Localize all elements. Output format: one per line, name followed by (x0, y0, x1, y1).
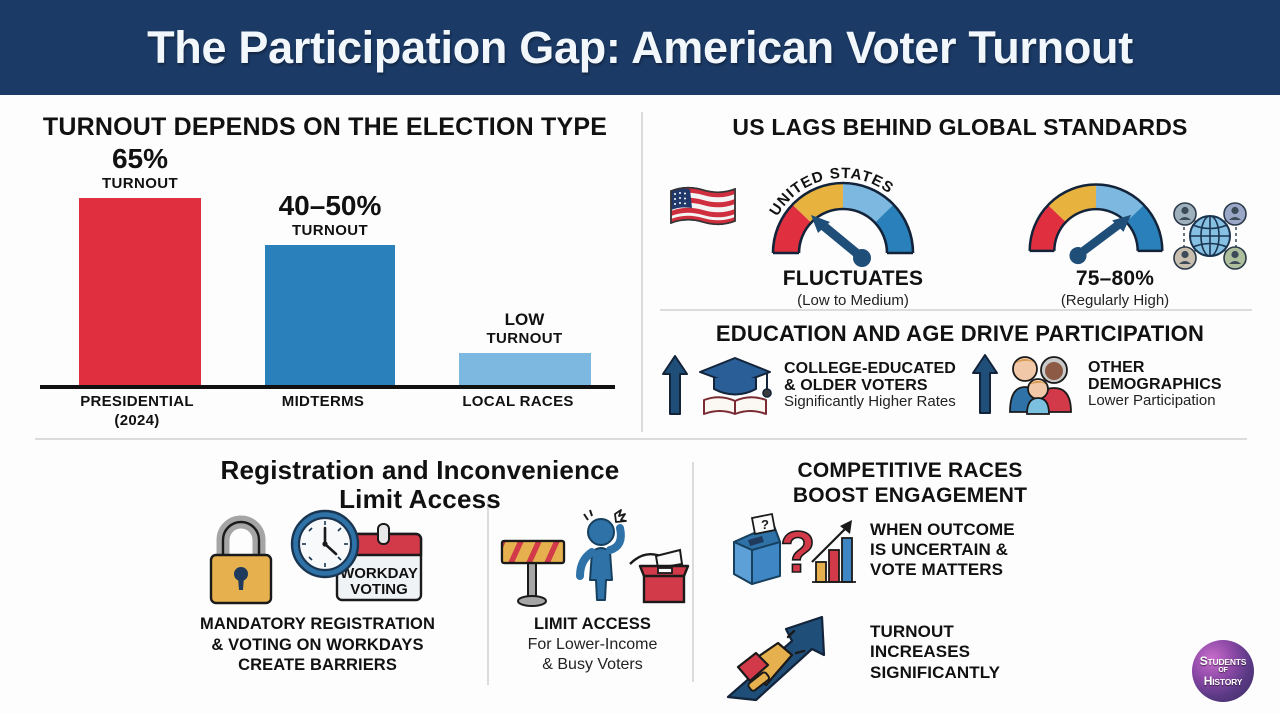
graduation-cap-icon (700, 358, 771, 397)
page-title: The Participation Gap: American Voter Tu… (147, 22, 1133, 74)
bar-chart-axis-line (40, 385, 615, 389)
gauge-subtext-us: (Low to Medium) (738, 292, 968, 309)
registration-columns: WORKDAY VOTING (150, 506, 690, 706)
competitive-panel: COMPETITIVE RACES BOOST ENGAGEMENT ? ? (700, 450, 1120, 708)
open-book-icon (704, 397, 766, 414)
registration-caption-limit-bold: LIMIT ACCESS (495, 614, 690, 635)
gauge-subtext-global: (Regularly High) (1000, 292, 1230, 309)
education-row: COLLEGE-EDUCATED & OLDER VOTERS Signific… (650, 350, 1270, 430)
education-item-college: COLLEGE-EDUCATED & OLDER VOTERS Signific… (662, 352, 956, 418)
bar-chart-title: TURNOUT DEPENDS ON THE ELECTION TYPE (20, 113, 630, 141)
education-item-other: OTHER DEMOGRAPHICS Lower Participation (972, 352, 1222, 416)
caption-line-3: CREATE BARRIERS (150, 655, 485, 676)
education-title: EDUCATION AND AGE DRIVE PARTICIPATION (650, 322, 1270, 347)
family-group-icon (1006, 352, 1078, 416)
bar-group-local: LOW TURNOUT (442, 311, 607, 385)
logo-line1-initial: S (1200, 654, 1208, 668)
bar-group-midterms: 40–50% TURNOUT (250, 192, 410, 385)
svg-text:?: ? (761, 517, 769, 532)
registration-item-limit-access: LIMIT ACCESS For Lower-Income & Busy Vot… (495, 506, 690, 675)
education-other-subtext: Lower Participation (1088, 393, 1222, 409)
x-label-presidential-line1: PRESIDENTIAL (80, 393, 194, 410)
question-mark-icon: ? (780, 520, 815, 585)
competitive-turnout-line3: SIGNIFICANTLY (870, 663, 1000, 683)
up-arrow-icon (972, 353, 998, 415)
up-arrow-icon (662, 354, 688, 416)
x-label-midterms-line1: MIDTERMS (282, 393, 364, 410)
x-label-midterms: MIDTERMS (238, 393, 408, 412)
competitive-title-line2: BOOST ENGAGEMENT (793, 484, 1027, 507)
caption-line-2: & VOTING ON WORKDAYS (150, 635, 485, 656)
logo-line1: TUDENTS (1208, 657, 1247, 667)
registration-caption-limit-line2: & Busy Voters (495, 655, 690, 675)
gauges-title: US LAGS BEHIND GLOBAL STANDARDS (650, 115, 1270, 141)
logo-line3: ISTORY (1212, 677, 1242, 687)
competitive-turnout-line2: INCREASES (870, 642, 1000, 662)
registration-caption-limit-line1: For Lower-Income (495, 635, 690, 655)
caption-line-1: MANDATORY REGISTRATION (150, 614, 485, 635)
competitive-uncertain-line3: VOTE MATTERS (870, 560, 1015, 580)
bar-rect-local (459, 353, 591, 385)
calendar-line-2: VOTING (350, 581, 408, 598)
logo-text: STUDENTS OF HISTORY (1200, 655, 1247, 688)
x-label-local-line1: LOCAL RACES (462, 393, 573, 410)
bar-value-local: LOW (442, 311, 607, 328)
gauges-row: UNITED STATES FLUCTUATES (Low to Medium) (650, 147, 1270, 307)
competitive-title-line1: COMPETITIVE RACES (797, 459, 1022, 482)
bar-chart-x-labels: PRESIDENTIAL (2024) MIDTERMS LOCAL RACES (40, 393, 615, 433)
gauges-panel: US LAGS BEHIND GLOBAL STANDARDS (650, 105, 1270, 305)
competitive-uncertain-line2: IS UNCERTAIN & (870, 540, 1015, 560)
gauge-headline-us: FLUCTUATES (738, 267, 968, 291)
bar-chart-panel: TURNOUT DEPENDS ON THE ELECTION TYPE 65%… (20, 105, 630, 430)
education-other-line1: OTHER (1088, 359, 1222, 376)
bar-sublabel-presidential: TURNOUT (70, 175, 210, 192)
ballot-box-icon (630, 550, 688, 602)
competitive-title: COMPETITIVE RACES BOOST ENGAGEMENT (700, 458, 1120, 508)
bar-rect-presidential (79, 198, 201, 385)
x-label-presidential: PRESIDENTIAL (2024) (52, 393, 222, 431)
clock-icon (292, 511, 358, 577)
x-label-presidential-line2: (2024) (114, 412, 159, 429)
bar-sublabel-local: TURNOUT (442, 330, 607, 347)
bar-sublabel-midterms: TURNOUT (250, 222, 410, 239)
education-college-line2: & OLDER VOTERS (784, 377, 956, 394)
growth-bar-chart-icon (812, 520, 856, 582)
competitive-uncertain-line1: WHEN OUTCOME (870, 520, 1015, 540)
page-header: The Participation Gap: American Voter Tu… (0, 0, 1280, 95)
frustrated-voter-icon (580, 510, 626, 600)
divider-vertical-bottom (692, 462, 694, 682)
divider-vertical-top (641, 112, 643, 432)
registration-caption-mandatory: MANDATORY REGISTRATION & VOTING ON WORKD… (150, 614, 485, 676)
education-other-line2: DEMOGRAPHICS (1088, 376, 1222, 393)
global-network-icon (1170, 197, 1250, 275)
svg-text:?: ? (780, 520, 815, 585)
education-college-line1: COLLEGE-EDUCATED (784, 360, 956, 377)
registration-item-mandatory: WORKDAY VOTING (150, 506, 485, 676)
padlock-icon (203, 514, 279, 606)
divider-horizontal-main (35, 438, 1247, 440)
competitive-item-uncertain: ? ? WHEN OUTCOME IS UNCERTAIN & (728, 512, 1015, 588)
competitive-item-turnout: TURNOUT INCREASES SIGNIFICANTLY (726, 605, 1000, 700)
divider-right-column (660, 309, 1252, 311)
bar-rect-midterms (265, 245, 395, 385)
ballot-box-question-icon: ? (734, 514, 780, 584)
bar-group-presidential: 65% TURNOUT (70, 145, 210, 385)
bar-value-presidential: 65% (70, 145, 210, 173)
registration-panel: Registration and Inconvenience Limit Acc… (150, 450, 690, 708)
calendar-line-1: WORKDAY (340, 565, 418, 582)
competitive-turnout-line1: TURNOUT (870, 622, 1000, 642)
education-panel: EDUCATION AND AGE DRIVE PARTICIPATION (650, 318, 1270, 433)
education-college-subtext: Significantly Higher Rates (784, 394, 956, 410)
gauge-united-states: UNITED STATES FLUCTUATES (Low to Medium) (738, 153, 968, 309)
us-flag-icon (668, 185, 738, 233)
bar-chart-plot: 65% TURNOUT 40–50% TURNOUT LOW TURNOUT (50, 163, 625, 385)
logo-line3-initial: H (1204, 674, 1212, 688)
barricade-icon (500, 516, 566, 608)
infographic-page: The Participation Gap: American Voter Tu… (0, 0, 1280, 714)
students-of-history-logo[interactable]: STUDENTS OF HISTORY (1192, 640, 1254, 702)
registration-title-line1: Registration and Inconvenience (221, 455, 620, 485)
bar-value-midterms: 40–50% (250, 192, 410, 220)
x-label-local: LOCAL RACES (428, 393, 608, 412)
